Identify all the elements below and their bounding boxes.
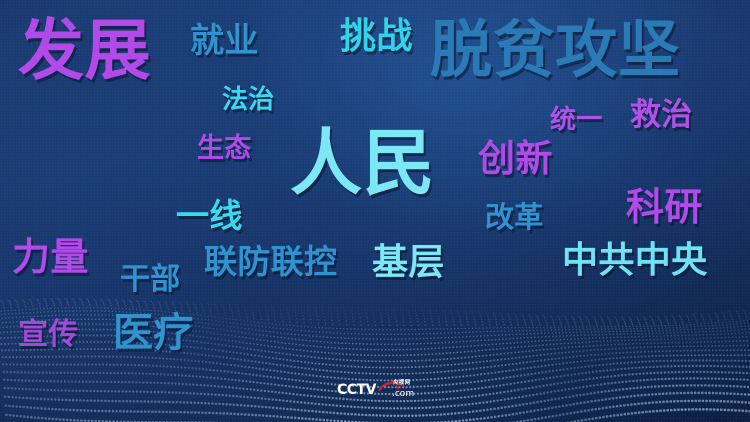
cctv-wordmark: CCTV	[337, 383, 376, 397]
word-cloud-term: 合作	[308, 89, 359, 114]
word-cloud-term: 新冠肺炎	[14, 162, 168, 200]
word-cloud-term: 宣传	[18, 320, 79, 350]
cctv-domain: .com	[392, 390, 414, 399]
word-cloud-term: 一线	[176, 199, 243, 232]
word-cloud-term: 发展	[18, 18, 151, 84]
word-cloud: 发展就业挑战脱贫攻坚落实财政法治合作统一救治生态新冠肺炎人民创新协调一线社区科研…	[0, 0, 750, 422]
word-cloud-term: 力量	[12, 238, 89, 276]
word-cloud-term: 生态	[197, 135, 252, 162]
word-cloud-term: 改革	[485, 203, 544, 232]
cctv-chinese-name: 央视网	[393, 381, 410, 387]
word-cloud-term: 创新	[478, 140, 553, 177]
word-cloud-term: 社区	[556, 183, 627, 218]
word-cloud-term: 医疗	[113, 313, 194, 353]
word-cloud-term: 人民	[290, 127, 435, 199]
word-cloud-term: 财政	[110, 113, 171, 143]
word-cloud-term: 中共中央	[562, 243, 707, 279]
word-cloud-term: 科研	[626, 188, 703, 226]
word-cloud-term: 贫困人口	[248, 308, 393, 344]
word-cloud-canvas: 发展就业挑战脱贫攻坚落实财政法治合作统一救治生态新冠肺炎人民创新协调一线社区科研…	[0, 0, 750, 422]
word-cloud-term: 基层	[372, 245, 445, 281]
word-cloud-term: 挑战	[340, 19, 413, 55]
word-cloud-term: 联防联控	[204, 245, 337, 278]
word-cloud-term: 协调	[608, 148, 663, 175]
word-cloud-term: 干部	[120, 265, 181, 295]
word-cloud-term: 救治	[630, 100, 693, 131]
word-cloud-term: 统一	[550, 107, 603, 133]
word-cloud-term: 法治	[222, 87, 275, 113]
word-cloud-term: 疫情防控	[426, 286, 668, 346]
word-cloud-term: 落实	[20, 99, 79, 128]
cctv-logo[interactable]: CCTV 央视网 .com	[337, 379, 421, 403]
word-cloud-term: 就业	[190, 24, 259, 58]
word-cloud-term: 脱贫攻坚	[430, 19, 680, 81]
